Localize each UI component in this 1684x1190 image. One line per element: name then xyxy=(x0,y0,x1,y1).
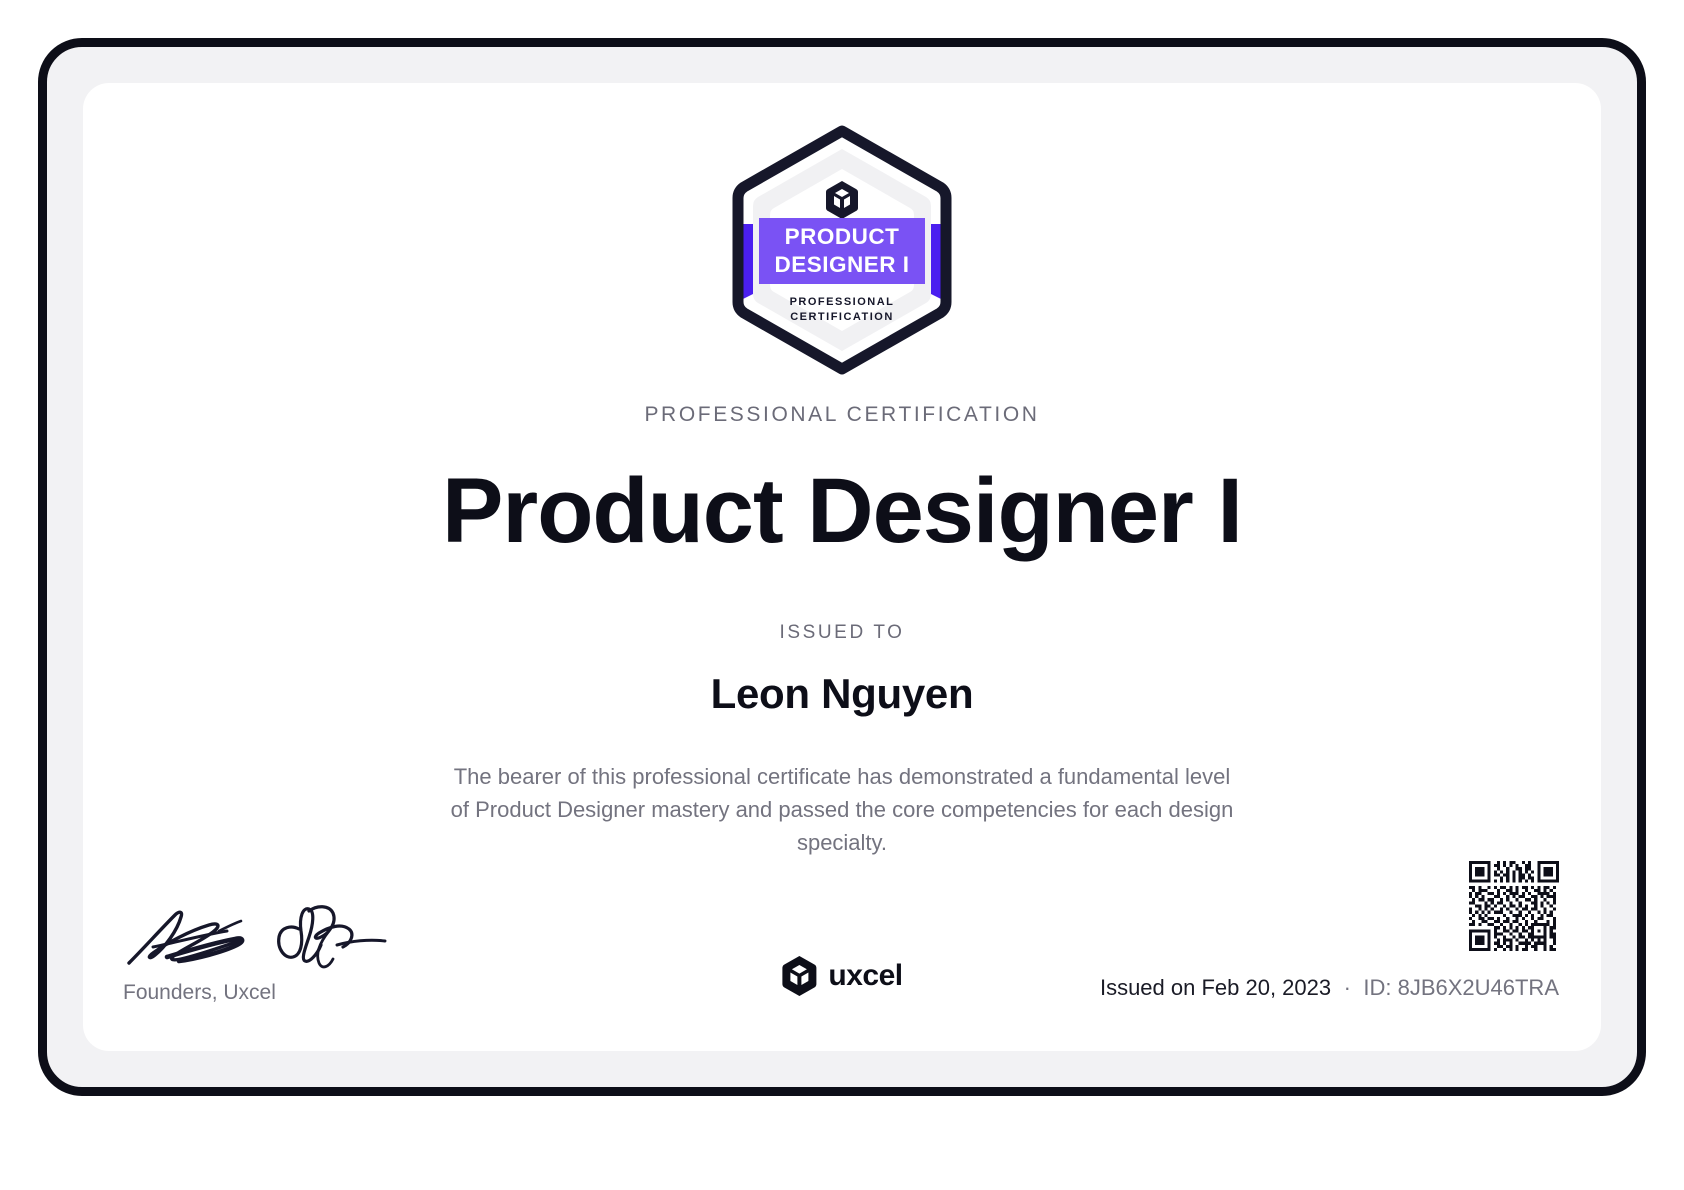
certificate-footer: Founders, Uxcel uxcel xyxy=(83,863,1601,1023)
badge-hexagon-graphic: PRODUCT DESIGNER I PROFESSIONAL CERTIFIC… xyxy=(707,125,977,375)
qr-code-icon xyxy=(1469,861,1559,951)
certificate-content: PROFESSIONAL CERTIFICATION Product Desig… xyxy=(83,403,1601,860)
certificate-id: ID: 8JB6X2U46TRA xyxy=(1363,975,1559,1000)
certificate-title: Product Designer I xyxy=(83,463,1601,560)
certificate-card: PRODUCT DESIGNER I PROFESSIONAL CERTIFIC… xyxy=(83,83,1601,1051)
badge-ribbon-line2: DESIGNER I xyxy=(774,252,909,277)
verification-qr-code[interactable] xyxy=(1469,861,1559,951)
badge-sub-line1: PROFESSIONAL xyxy=(790,296,895,308)
uxcel-logo-icon xyxy=(781,955,817,997)
certificate-description: The bearer of this professional certific… xyxy=(447,760,1237,860)
founder-signatures-icon xyxy=(123,901,413,975)
issuance-meta: Issued on Feb 20, 2023 · ID: 8JB6X2U46TR… xyxy=(1100,975,1559,1001)
issued-to-label: ISSUED TO xyxy=(83,622,1601,644)
badge-ribbon-line1: PRODUCT xyxy=(785,224,900,249)
uxcel-brand-logo: uxcel xyxy=(781,955,902,997)
uxcel-brand-name: uxcel xyxy=(828,959,902,993)
founders-label: Founders, Uxcel xyxy=(123,981,453,1005)
certification-badge: PRODUCT DESIGNER I PROFESSIONAL CERTIFIC… xyxy=(83,125,1601,375)
meta-separator: · xyxy=(1336,975,1359,1000)
badge-sub-line2: CERTIFICATION xyxy=(790,311,894,323)
certification-eyebrow: PROFESSIONAL CERTIFICATION xyxy=(83,403,1601,427)
issued-on-date: Issued on Feb 20, 2023 xyxy=(1100,975,1331,1000)
certificate-frame: PRODUCT DESIGNER I PROFESSIONAL CERTIFIC… xyxy=(38,38,1646,1096)
signature-block: Founders, Uxcel xyxy=(123,901,453,1005)
recipient-name: Leon Nguyen xyxy=(83,670,1601,718)
